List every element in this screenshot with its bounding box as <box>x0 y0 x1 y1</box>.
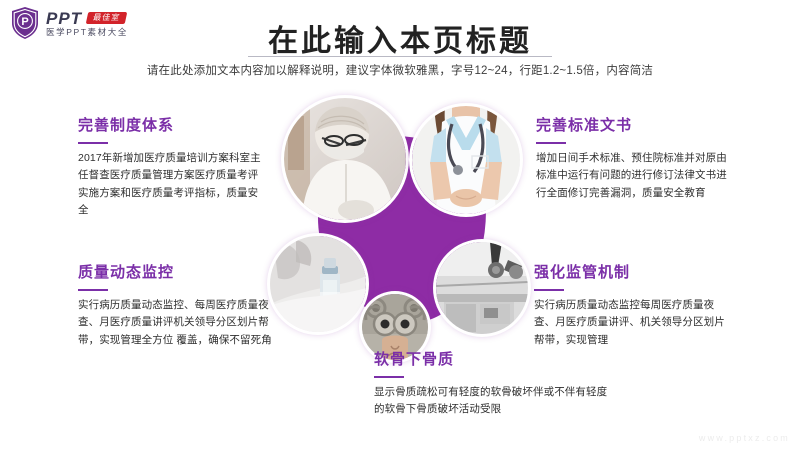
content-block-top-left: 完善制度体系 2017年新增加医疗质量培训方案科室主任督查医疗质量管理方案医疗质… <box>78 118 268 219</box>
content-block-bottom: 软骨下骨质 显示骨质疏松可有轻度的软骨破坏伴或不伴有轻度的软骨下骨质破坏活动受限 <box>374 352 610 419</box>
content-block-mid-right: 强化监管机制 实行病历质量动态监控每周医疗质量夜查、月医疗质量讲评、机关领导分区… <box>534 265 734 349</box>
block-underline <box>534 289 564 292</box>
block-body: 2017年新增加医疗质量培训方案科室主任督查医疗质量管理方案医疗质量考评实施方案… <box>78 150 268 219</box>
block-underline <box>374 376 404 379</box>
page-title: 在此输入本页标题 <box>0 16 800 60</box>
block-underline <box>78 142 108 145</box>
footer-watermark: www.pptxz.com <box>699 433 790 443</box>
nurse-with-stethoscope-photo[interactable] <box>412 106 520 214</box>
block-body: 增加日间手术标准、预住院标准并对原由标准中运行有问题的进行修订法律文书进行全面修… <box>536 150 732 202</box>
page-subtitle: 请在此处添加文本内容加以解释说明，建议字体微软雅黑，字号12~24，行距1.2~… <box>0 62 800 78</box>
block-title: 质量动态监控 <box>78 265 274 282</box>
block-title: 强化监管机制 <box>534 265 734 282</box>
block-body: 实行病历质量动态监控、每周医疗质量夜查、月医疗质量讲评机关领导分区划片帮带，实现… <box>78 297 274 349</box>
content-block-top-right: 完善标准文书 增加日间手术标准、预住院标准并对原由标准中运行有问题的进行修订法律… <box>536 118 732 202</box>
block-title: 完善制度体系 <box>78 118 268 135</box>
block-title: 完善标准文书 <box>536 118 732 135</box>
surgeon-in-scrubs-photo[interactable] <box>284 98 406 220</box>
block-body: 显示骨质疏松可有轻度的软骨破坏伴或不伴有轻度的软骨下骨质破坏活动受限 <box>374 384 610 419</box>
block-underline <box>536 142 566 145</box>
block-title: 软骨下骨质 <box>374 352 610 369</box>
central-diagram <box>262 92 542 377</box>
medicine-vial-photo[interactable] <box>270 236 366 332</box>
medical-equipment-photo[interactable] <box>436 242 528 334</box>
block-body: 实行病历质量动态监控每周医疗质量夜查、月医疗质量讲评、机关领导分区划片帮带，实现… <box>534 297 734 349</box>
block-underline <box>78 289 108 292</box>
content-block-mid-left: 质量动态监控 实行病历质量动态监控、每周医疗质量夜查、月医疗质量讲评机关领导分区… <box>78 265 274 349</box>
title-divider <box>248 56 552 57</box>
